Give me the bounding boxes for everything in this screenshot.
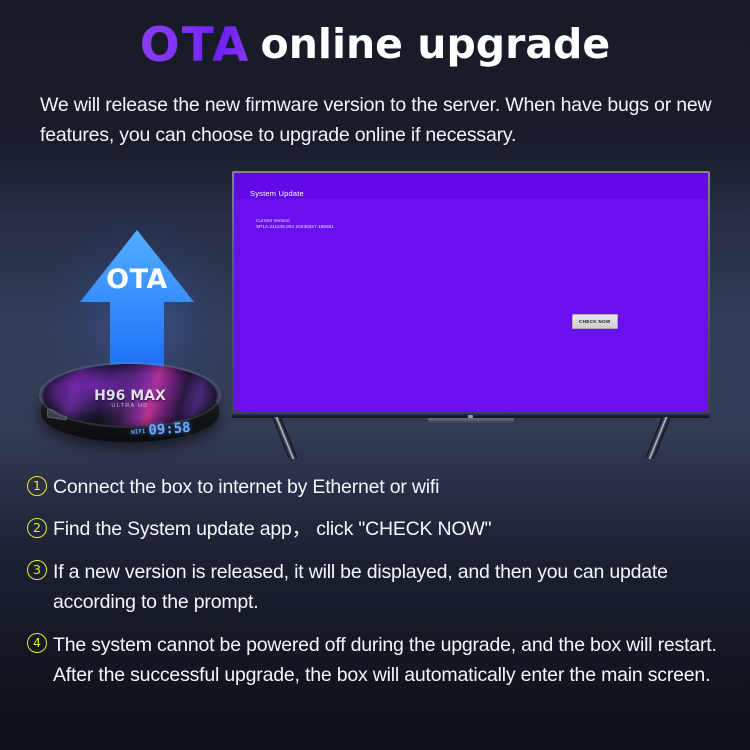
television-illustration: System Update Current Version: SP1A.2111… <box>232 171 712 451</box>
wifi-icon: WIFI <box>131 427 146 435</box>
list-item: 4 The system cannot be powered off durin… <box>27 630 727 690</box>
tv-center-bar <box>428 418 514 423</box>
arrow-label: OTA <box>78 264 196 295</box>
system-update-title: System Update <box>250 189 304 198</box>
check-now-button[interactable]: CHECK NOW <box>572 314 618 329</box>
step-text-2: Find the System update app， click "CHECK… <box>53 515 727 544</box>
step-number-4: 4 <box>27 633 47 653</box>
step-text-4: The system cannot be powered off during … <box>53 630 727 690</box>
tv-screen: System Update Current Version: SP1A.2111… <box>234 173 708 411</box>
ota-upgrade-infographic: OTAonline upgrade We will release the ne… <box>0 0 750 750</box>
list-item: 3 If a new version is released, it will … <box>27 557 727 617</box>
title-accent-ota: OTA <box>140 18 251 73</box>
step-number-3: 3 <box>27 560 47 580</box>
current-version-value: SP1A.211105.004 20230327.165551 <box>256 224 334 229</box>
system-update-header-bar <box>234 173 708 199</box>
tv-box-device: H96 MAX ULTRA HD WIFI 09:58 <box>33 358 228 458</box>
steps-list: 1 Connect the box to internet by Etherne… <box>27 473 727 703</box>
led-time: 09:58 <box>148 420 191 439</box>
tv-leg-right <box>645 417 671 459</box>
current-version-label: Current Version: <box>256 217 291 224</box>
step-text-1: Connect the box to internet by Ethernet … <box>53 473 727 502</box>
list-item: 1 Connect the box to internet by Etherne… <box>27 473 727 502</box>
tv-bezel: System Update Current Version: SP1A.2111… <box>232 171 710 414</box>
tv-leg-left <box>272 417 298 459</box>
step-number-1: 1 <box>27 476 47 496</box>
title-rest: online upgrade <box>261 20 611 68</box>
description-paragraph: We will release the new firmware version… <box>40 90 720 150</box>
step-number-2: 2 <box>27 518 47 538</box>
page-title: OTAonline upgrade <box>0 18 750 73</box>
ota-arrow-icon: OTA <box>78 228 196 376</box>
step-text-3: If a new version is released, it will be… <box>53 557 727 617</box>
list-item: 2 Find the System update app， click "CHE… <box>27 515 727 544</box>
